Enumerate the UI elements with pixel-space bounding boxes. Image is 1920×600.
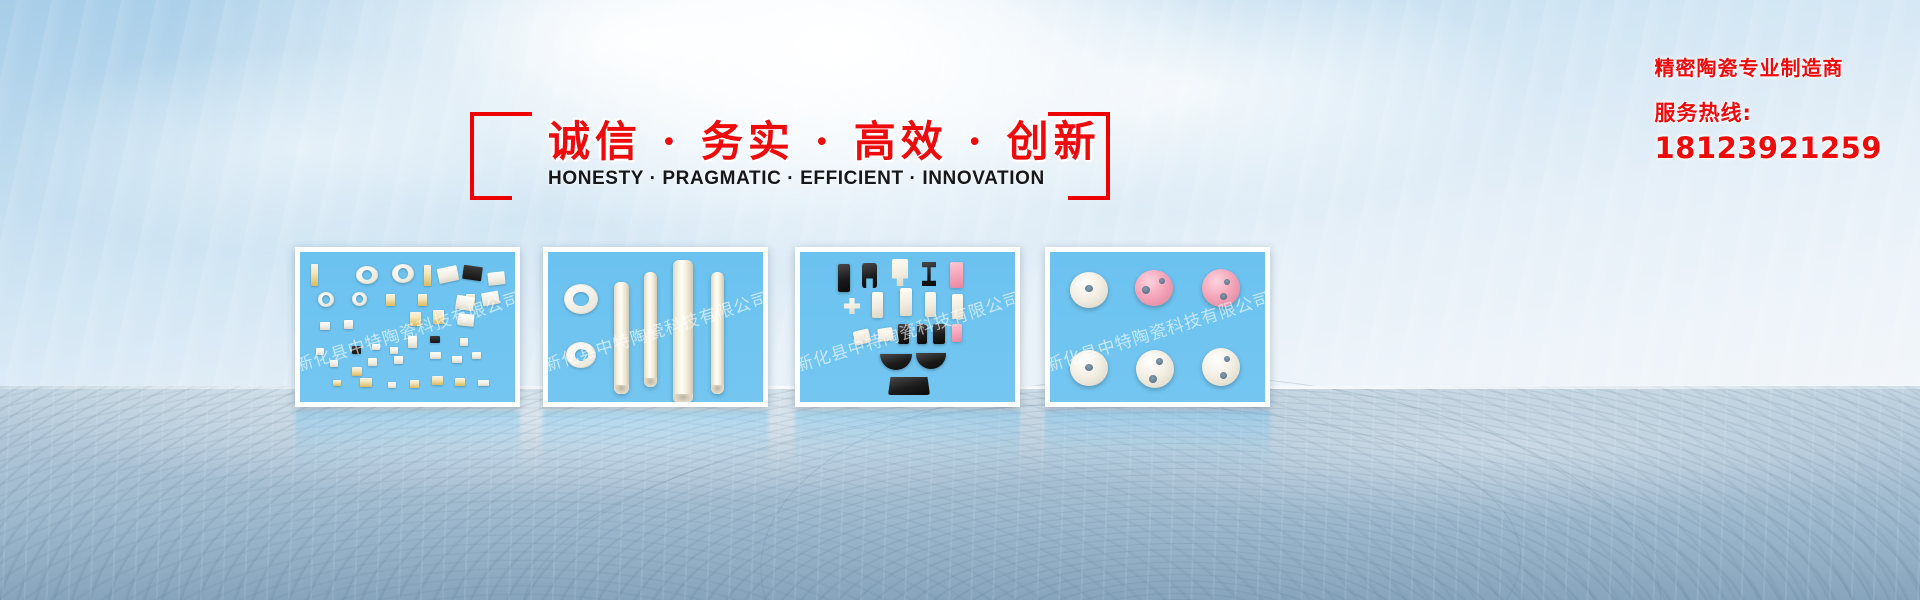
ceramic-block	[900, 288, 912, 316]
chip-component	[394, 356, 403, 364]
chip-component	[388, 382, 396, 388]
product-panel-smd-chips[interactable]: 新化县中特陶瓷科技有限公司	[295, 247, 520, 407]
ceramic-block	[892, 259, 908, 286]
product-panel-tubes[interactable]: 新化县中特陶瓷科技有限公司	[543, 247, 768, 407]
ceramic-ring	[392, 264, 414, 283]
chip-component	[368, 358, 377, 366]
ceramic-block	[922, 262, 936, 286]
chip-component	[360, 378, 372, 387]
panel-image: 新化县中特陶瓷科技有限公司	[300, 252, 515, 402]
chip-component	[430, 336, 440, 343]
panel-image: 新化县中特陶瓷科技有限公司	[800, 252, 1015, 402]
ceramic-disc	[1070, 272, 1108, 308]
chip-component	[478, 380, 489, 386]
product-panel-discs[interactable]: 新化县中特陶瓷科技有限公司	[1045, 247, 1270, 407]
chip-component	[424, 265, 431, 286]
chip-component	[460, 338, 468, 346]
ceramic-disc	[1135, 270, 1173, 306]
ceramic-cross	[844, 298, 860, 314]
chip-component	[344, 320, 353, 329]
ceramic-arc	[880, 354, 912, 370]
chip-component	[352, 367, 362, 376]
chip-component	[472, 352, 481, 359]
chip-component	[437, 265, 460, 284]
ceramic-disc	[1136, 350, 1174, 388]
panel-reflection	[795, 411, 1020, 477]
panel-image: 新化县中特陶瓷科技有限公司	[548, 252, 763, 402]
chip-component	[455, 378, 465, 386]
chip-component	[320, 322, 330, 330]
chip-component	[333, 380, 341, 386]
chip-component	[432, 376, 443, 385]
ceramic-base	[888, 377, 930, 395]
panel-image: 新化县中特陶瓷科技有限公司	[1050, 252, 1265, 402]
chip-component	[430, 352, 441, 359]
ceramic-block	[838, 264, 850, 292]
ceramic-ring	[356, 266, 378, 284]
panel-reflection	[543, 411, 768, 477]
hero-banner: 诚信 · 务实 · 高效 · 创新 HONESTY · PRAGMATIC · …	[0, 0, 1920, 600]
chip-component	[311, 264, 318, 286]
panel-reflection	[295, 411, 520, 477]
ceramic-block	[862, 263, 877, 288]
chip-component	[410, 380, 419, 388]
chip-component	[386, 294, 395, 306]
ceramic-ring	[352, 292, 367, 306]
chip-component	[418, 294, 427, 306]
ceramic-arc	[916, 353, 946, 369]
ceramic-ring	[564, 284, 598, 314]
chip-component	[452, 356, 462, 363]
ceramic-block	[950, 262, 963, 288]
chip-component	[487, 271, 505, 286]
product-panel-row: 新化县中特陶瓷科技有限公司	[0, 0, 1920, 600]
chip-component	[462, 265, 483, 282]
ceramic-ring	[318, 292, 334, 307]
product-panel-blocks[interactable]: 新化县中特陶瓷科技有限公司	[795, 247, 1020, 407]
ceramic-tube	[711, 272, 724, 394]
panel-reflection	[1045, 411, 1270, 477]
ceramic-block	[872, 292, 883, 318]
ceramic-disc	[1202, 348, 1240, 386]
